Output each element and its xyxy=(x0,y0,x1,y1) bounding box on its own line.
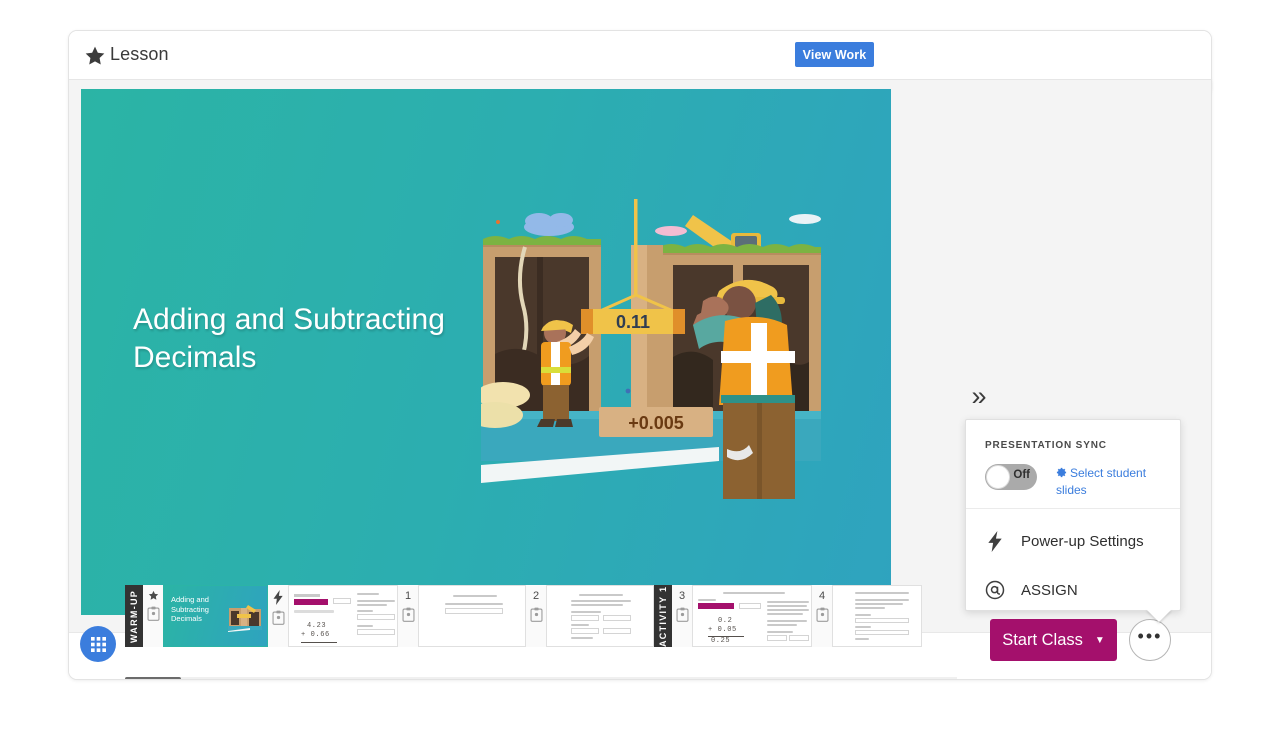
at-sign-icon xyxy=(985,580,1005,600)
assign-row[interactable]: ASSIGN xyxy=(985,576,1078,604)
presentation-sync-toggle[interactable]: Off xyxy=(985,464,1037,490)
lightning-bolt-icon xyxy=(985,531,1005,552)
view-work-button[interactable]: View Work xyxy=(795,42,874,67)
mini-illustration-icon xyxy=(228,604,262,632)
slide-filmstrip: WARM-UP Adding and Subtracting Decimals xyxy=(69,632,1211,680)
thumbnail-slide-1[interactable] xyxy=(418,585,526,647)
popover-tail xyxy=(1146,609,1172,622)
power-up-settings-row[interactable]: Power-up Settings xyxy=(985,527,1144,555)
start-class-button[interactable]: Start Class ▼ xyxy=(990,619,1117,661)
thumb-gutter-5: 3 xyxy=(672,585,692,647)
construction-workers-beam-illustration: 0.11 +0.005 xyxy=(481,199,821,499)
toggle-knob xyxy=(986,465,1010,489)
star-icon xyxy=(148,590,159,601)
clipboard-icon xyxy=(402,607,415,622)
thumb-gutter-3: 1 xyxy=(398,585,418,647)
thumb-gutter-6: 4 xyxy=(812,585,832,647)
star-icon xyxy=(84,45,106,67)
grid-menu-icon xyxy=(91,637,106,652)
start-class-label: Start Class xyxy=(1002,631,1083,650)
section-tab-activity-1[interactable]: ACTIVITY 1 xyxy=(654,585,672,647)
assign-label: ASSIGN xyxy=(1021,582,1078,599)
clipboard-icon xyxy=(530,607,543,622)
thumbnail-slide-2[interactable] xyxy=(546,585,654,647)
select-student-slides-label: Select student slides xyxy=(1056,466,1146,497)
thumbnail-slide-title[interactable]: Adding and Subtracting Decimals xyxy=(163,585,268,647)
clipboard-icon xyxy=(816,607,829,622)
next-slide-chevron-icon[interactable]: » xyxy=(959,376,999,416)
page-title: Lesson xyxy=(110,44,169,65)
thumbnail-scrollbar-handle[interactable] xyxy=(125,677,181,680)
thumb-gutter-2 xyxy=(268,585,288,647)
thumbnail-scrollbar[interactable] xyxy=(125,677,957,680)
power-up-settings-label: Power-up Settings xyxy=(1021,533,1144,550)
section-tab-warm-up[interactable]: WARM-UP xyxy=(125,585,143,647)
thumbnail-track[interactable]: WARM-UP Adding and Subtracting Decimals xyxy=(125,585,957,677)
slide-title: Adding and Subtracting Decimals xyxy=(133,301,503,377)
gear-icon xyxy=(1056,467,1067,478)
chevron-down-icon: ▼ xyxy=(1095,635,1105,646)
svg-text:+0.005: +0.005 xyxy=(628,413,684,433)
lightning-bolt-icon xyxy=(273,590,284,605)
thumbnail-slide-4[interactable] xyxy=(832,585,922,647)
popover-divider xyxy=(966,508,1180,509)
svg-text:0.11: 0.11 xyxy=(616,312,650,332)
thumbnail-slide-warmup[interactable]: 4.23 + 0.66 xyxy=(288,585,398,647)
presentation-sync-popover: PRESENTATION SYNC Off Select student sli… xyxy=(965,419,1181,611)
thumbnail-slide-3[interactable]: 0.2 + 0.05 0.25 xyxy=(692,585,812,647)
card-header: Lesson View Work xyxy=(69,31,1211,80)
presentation-sync-heading: PRESENTATION SYNC xyxy=(985,440,1107,451)
current-slide-canvas[interactable]: Adding and Subtracting Decimals xyxy=(81,89,891,615)
toggle-state-label: Off xyxy=(1013,469,1030,481)
clipboard-icon xyxy=(272,610,285,625)
grid-menu-button[interactable] xyxy=(80,626,116,662)
thumb-gutter-4: 2 xyxy=(526,585,546,647)
clipboard-icon xyxy=(676,607,689,622)
thumb-gutter-1 xyxy=(143,585,163,647)
select-student-slides-link[interactable]: Select student slides xyxy=(1056,465,1171,499)
more-options-button[interactable]: ••• xyxy=(1129,619,1171,661)
clipboard-icon xyxy=(147,606,160,621)
